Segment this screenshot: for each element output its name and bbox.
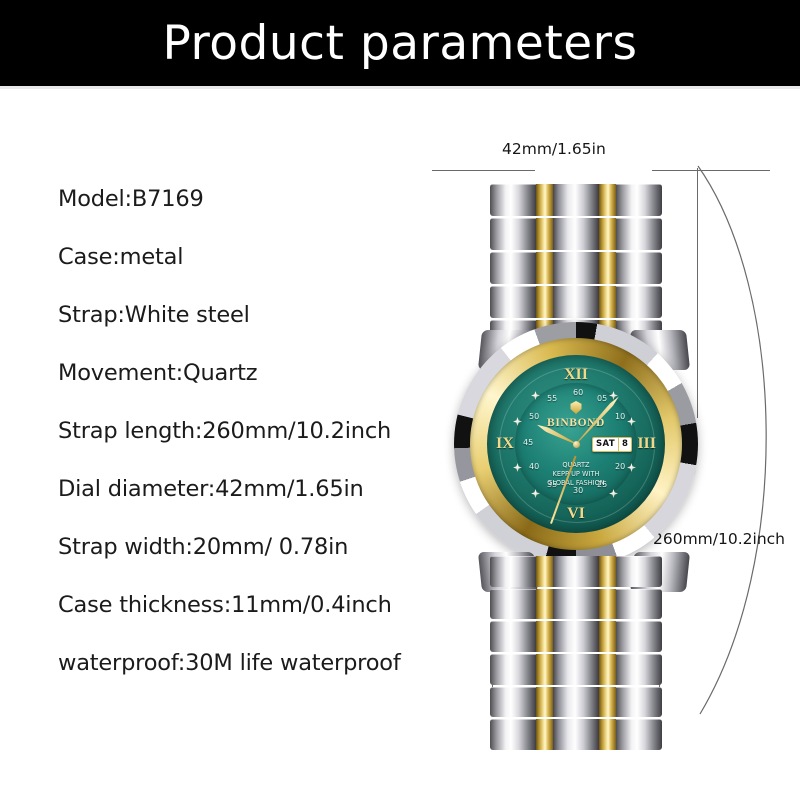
roman-numeral-6: VI — [567, 506, 585, 522]
bracelet-link — [490, 621, 662, 652]
dial-tagline: QUARTZ KEPP UP WITH GLOBAL FASHION — [547, 461, 604, 488]
minute-mark-40: 40 — [529, 463, 539, 471]
spec-list: Model:B7169 Case:metal Strap:White steel… — [58, 170, 458, 692]
header-divider — [0, 86, 800, 89]
minute-mark-05: 05 — [597, 395, 607, 403]
spec-row-strap-width: Strap width:20mm/ 0.78in — [58, 518, 458, 576]
minute-mark-10: 10 — [615, 413, 625, 421]
dimension-label-case-width: 42mm/1.65in — [502, 140, 606, 158]
spec-row-case: Case:metal — [58, 228, 458, 286]
tagline-line-2: KEPP UP WITH — [547, 470, 604, 479]
bracelet-link — [490, 218, 662, 250]
day-value: SAT — [593, 438, 618, 451]
minute-mark-45: 45 — [523, 439, 533, 447]
spec-row-dial-diameter: Dial diameter:42mm/1.65in — [58, 460, 458, 518]
spec-row-strap: Strap:White steel — [58, 286, 458, 344]
date-value: 8 — [618, 438, 631, 451]
watch-case: XII III VI IX 60 05 10 15 20 25 30 35 40 — [454, 322, 698, 566]
bracelet-lower — [490, 556, 662, 752]
bracelet-link — [490, 556, 662, 587]
gold-bezel: XII III VI IX 60 05 10 15 20 25 30 35 40 — [470, 338, 682, 550]
minute-mark-50: 50 — [529, 413, 539, 421]
roman-numeral-9: IX — [496, 436, 514, 452]
bracelet-link — [490, 654, 662, 685]
spec-row-waterproof: waterproof:30M life waterproof — [58, 634, 458, 692]
bracelet-link — [490, 687, 662, 718]
minute-mark-20: 20 — [615, 463, 625, 471]
spec-row-movement: Movement:Quartz — [58, 344, 458, 402]
bracelet-link — [490, 589, 662, 620]
tagline-line-3: GLOBAL FASHION — [547, 479, 604, 488]
minute-mark-55: 55 — [547, 395, 557, 403]
day-date-window: SAT 8 — [592, 437, 632, 452]
bracelet-link — [490, 719, 662, 750]
product-parameters-page: Product parameters Model:B7169 Case:meta… — [0, 0, 800, 800]
spec-row-case-thickness: Case thickness:11mm/0.4inch — [58, 576, 458, 634]
hands-center-cap — [573, 441, 580, 448]
page-title: Product parameters — [162, 20, 637, 67]
watch-product-image: XII III VI IX 60 05 10 15 20 25 30 35 40 — [440, 170, 740, 750]
roman-numeral-3: III — [637, 436, 656, 452]
bracelet-link — [490, 184, 662, 216]
watch-dial: XII III VI IX 60 05 10 15 20 25 30 35 40 — [487, 355, 665, 533]
tagline-line-1: QUARTZ — [547, 461, 604, 470]
spec-row-model: Model:B7169 — [58, 170, 458, 228]
watch-diagram: 42mm/1.65in 260mm/10.2inch 20mm/ 0.78in — [440, 120, 800, 760]
bracelet-link — [490, 286, 662, 318]
roman-numeral-12: XII — [564, 367, 588, 383]
header-band: Product parameters — [0, 0, 800, 86]
minute-mark-60: 60 — [573, 389, 583, 397]
bracelet-link — [490, 252, 662, 284]
spec-row-strap-length: Strap length:260mm/10.2inch — [58, 402, 458, 460]
